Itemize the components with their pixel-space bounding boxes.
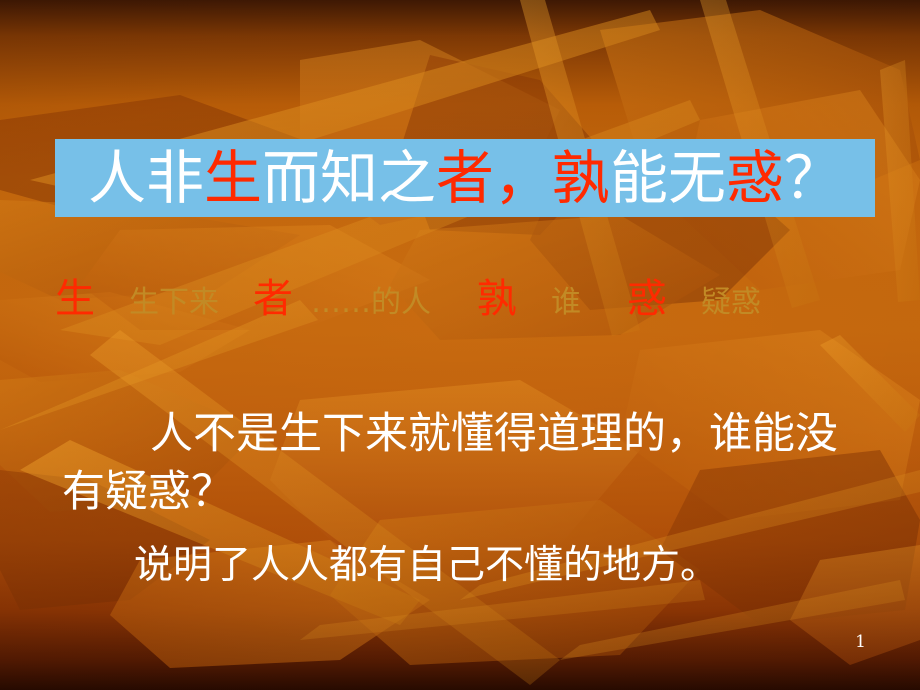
gloss-value-2: 谁 (551, 285, 581, 320)
vocabulary-gloss-row: 生生下来者……的人孰谁惑疑惑 (55, 276, 885, 322)
page-number: 1 (855, 632, 866, 652)
gloss-key-1: 者 (253, 276, 293, 322)
title-segment-0: 人非 (88, 144, 204, 212)
title-segment-7: ？ (784, 144, 842, 212)
title-segment-3: 者， (436, 144, 552, 212)
slide-title: 人非生而知之者，孰能无惑？ (88, 149, 842, 207)
explanation-paragraph: 说明了人人都有自己不懂的地方。 (62, 539, 872, 593)
title-segment-2: 而知之 (262, 144, 436, 212)
title-segment-5: 能无 (610, 144, 726, 212)
title-segment-6: 惑 (726, 144, 784, 212)
gloss-key-2: 孰 (477, 276, 517, 322)
gloss-value-1: ……的人 (311, 285, 431, 320)
gloss-value-3: 疑惑 (701, 285, 761, 320)
title-segment-4: 孰 (552, 144, 610, 212)
title-banner: 人非生而知之者，孰能无惑？ (55, 139, 875, 217)
gloss-key-3: 惑 (627, 276, 667, 322)
translation-paragraph: 人不是生下来就懂得道理的，谁能没有疑惑？ (62, 405, 872, 521)
gloss-key-0: 生 (55, 276, 95, 322)
title-segment-1: 生 (204, 144, 262, 212)
gloss-value-0: 生下来 (129, 285, 219, 320)
presentation-slide: 人非生而知之者，孰能无惑？ 生生下来者……的人孰谁惑疑惑 人不是生下来就懂得道理… (0, 0, 920, 690)
